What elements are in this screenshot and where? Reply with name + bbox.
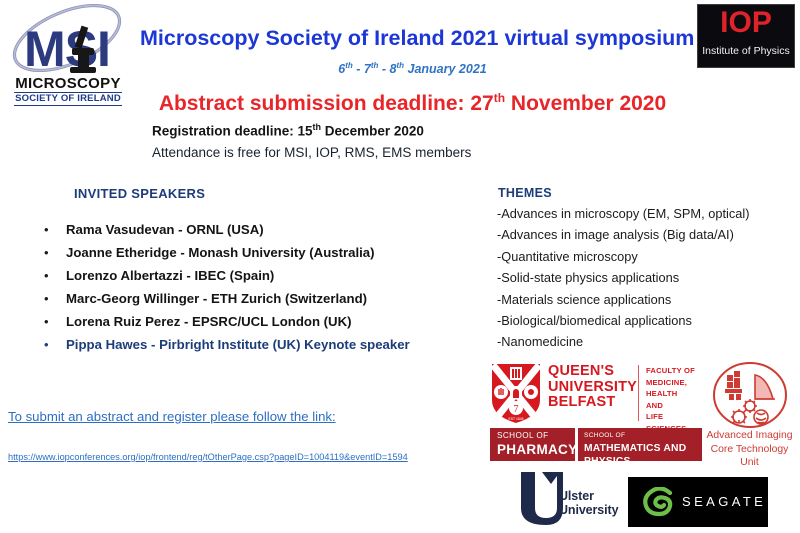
bullet-icon: • <box>44 264 66 287</box>
msi-wordmark: MICROSCOPY <box>12 76 124 91</box>
list-item: -Materials science applications <box>497 289 797 310</box>
themes-list: -Advances in microscopy (EM, SPM, optica… <box>497 203 797 353</box>
school-of-pharmacy-logo: SCHOOL OF PHARMACY <box>490 428 575 461</box>
msi-subwordmark: SOCIETY OF IRELAND <box>10 93 126 104</box>
submit-abstract-intro: To submit an abstract and register pleas… <box>8 409 336 424</box>
page-title: Microscopy Society of Ireland 2021 virtu… <box>140 26 685 50</box>
invited-speakers-heading: INVITED SPEAKERS <box>74 186 205 201</box>
speaker-name: Joanne Etheridge - Monash University (Au… <box>66 241 375 264</box>
iop-acronym: IOP <box>698 7 794 39</box>
msi-logo: MSI MICROSCOPY SOCIETY OF IRELAND <box>6 4 128 112</box>
aictu-mark-icon <box>711 361 789 429</box>
bullet-icon: • <box>44 287 66 310</box>
list-item: -Quantitative microscopy <box>497 246 797 267</box>
list-item-keynote: • Pippa Hawes - Pirbright Institute (UK)… <box>44 333 484 356</box>
ulster-university-logo: UlsterUniversity <box>515 470 625 528</box>
registration-link[interactable]: https://www.iopconferences.org/iop/front… <box>8 452 408 462</box>
seagate-wordmark: SEAGATE <box>682 493 766 511</box>
speaker-name: Rama Vasudevan - ORNL (USA) <box>66 218 264 241</box>
msi-logo-mark: MSI <box>6 4 128 82</box>
list-item: • Joanne Etheridge - Monash University (… <box>44 241 484 264</box>
list-item: • Marc-Georg Willinger - ETH Zurich (Swi… <box>44 287 484 310</box>
seagate-logo: SEAGATE <box>628 477 768 527</box>
aictu-wordmark: Advanced ImagingCore TechnologyUnit <box>703 429 796 470</box>
school-of-label: SCHOOL OF <box>497 431 549 441</box>
speaker-name: Lorena Ruiz Perez - EPSRC/UCL London (UK… <box>66 310 352 333</box>
list-item: -Advances in image analysis (Big data/AI… <box>497 224 797 245</box>
registration-deadline: Registration deadline: 15th December 202… <box>152 119 424 140</box>
queens-university-belfast-logo: 7 EST 1845 QUEEN'SUNIVERSITYBELFAST FACU… <box>490 362 695 428</box>
qub-divider <box>638 365 639 421</box>
ulster-wordmark: UlsterUniversity <box>559 490 618 517</box>
svg-text:7: 7 <box>514 404 519 415</box>
qub-faculty-text: FACULTY OFMEDICINE,HEALTH ANDLIFE SCIENC… <box>646 365 695 434</box>
svg-text:MSI: MSI <box>24 21 110 77</box>
pharmacy-label: PHARMACY <box>497 442 575 458</box>
list-item: -Biological/biomedical applications <box>497 310 797 331</box>
school-of-label: SCHOOL OF <box>584 432 625 440</box>
msi-divider-bottom <box>14 105 122 106</box>
seagate-spiral-icon <box>643 487 675 517</box>
abstract-deadline: Abstract submission deadline: 27th Novem… <box>140 86 685 116</box>
invited-speakers-list: • Rama Vasudevan - ORNL (USA) • Joanne E… <box>44 218 484 356</box>
bullet-icon: • <box>44 218 66 241</box>
list-item: -Advances in microscopy (EM, SPM, optica… <box>497 203 797 224</box>
iop-subtitle: Institute of Physics <box>698 45 794 57</box>
list-item: -Solid-state physics applications <box>497 267 797 288</box>
mathematics-and-physics-label: MATHEMATICS AND PHYSICS <box>584 442 702 461</box>
advanced-imaging-core-technology-unit-logo: Advanced ImagingCore TechnologyUnit <box>703 361 796 471</box>
speaker-name: Lorenzo Albertazzi - IBEC (Spain) <box>66 264 274 287</box>
iop-logo: IOP Institute of Physics <box>697 4 795 68</box>
list-item: • Lorena Ruiz Perez - EPSRC/UCL London (… <box>44 310 484 333</box>
qub-crest-icon: 7 EST 1845 <box>490 362 542 425</box>
qub-wordmark: QUEEN'SUNIVERSITYBELFAST <box>548 364 637 411</box>
list-item: -Nanomedicine <box>497 331 797 352</box>
svg-text:EST 1845: EST 1845 <box>508 417 523 421</box>
event-dates: 6th - 7th - 8th January 2021 <box>140 58 685 77</box>
dates-text: 6th - 7th - 8th January 2021 <box>338 62 486 76</box>
bullet-icon: • <box>44 241 66 264</box>
list-item: • Lorenzo Albertazzi - IBEC (Spain) <box>44 264 484 287</box>
speaker-name: Marc-Georg Willinger - ETH Zurich (Switz… <box>66 287 367 310</box>
bullet-icon: • <box>44 333 66 356</box>
symposium-poster: MSI MICROSCOPY SOCIETY OF IRELAND IOP In… <box>0 0 800 533</box>
list-item: • Rama Vasudevan - ORNL (USA) <box>44 218 484 241</box>
attendance-note: Attendance is free for MSI, IOP, RMS, EM… <box>152 144 471 161</box>
themes-heading: THEMES <box>498 186 552 200</box>
bullet-icon: • <box>44 310 66 333</box>
speaker-name: Pippa Hawes - Pirbright Institute (UK) K… <box>66 333 410 356</box>
school-of-mathematics-and-physics-logo: SCHOOL OF MATHEMATICS AND PHYSICS <box>578 428 702 461</box>
